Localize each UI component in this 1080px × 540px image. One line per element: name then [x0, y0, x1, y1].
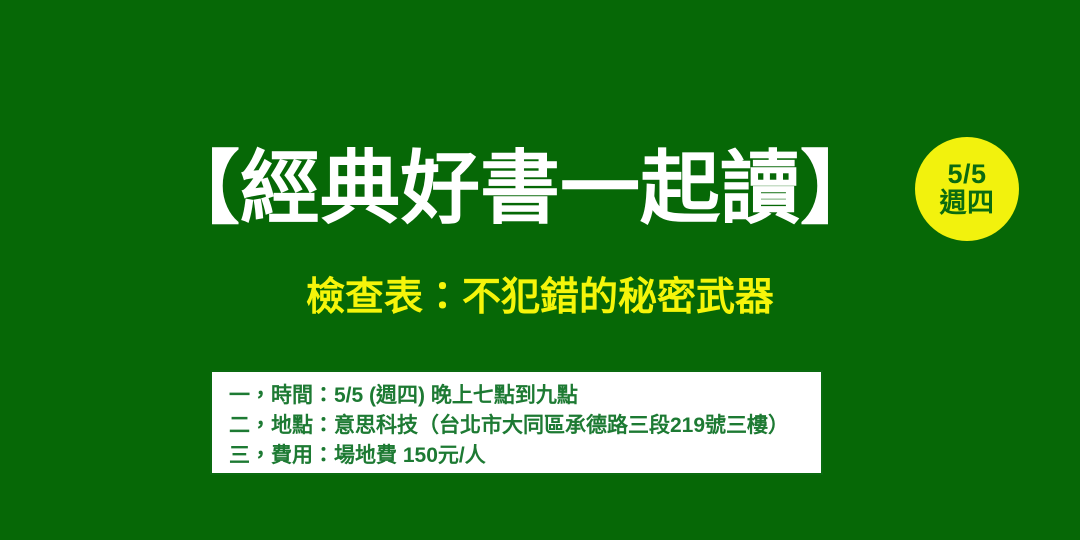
page-subtitle: 檢查表：不犯錯的秘密武器: [0, 276, 1080, 320]
badge-date-label: 5/5: [947, 160, 986, 189]
title-char-2: 典: [320, 148, 400, 228]
page-title: 【 經 典 好 書 一 起 讀 】: [160, 136, 854, 240]
event-poster: 【 經 典 好 書 一 起 讀 】 5/5 週四 檢查表：不犯錯的秘密武器 一，…: [0, 0, 1080, 540]
details-line-location: 二，地點：意思科技（台北市大同區承德路三段219號三樓）: [229, 411, 821, 441]
date-badge: 5/5 週四: [915, 137, 1019, 241]
title-char-7: 讀: [720, 148, 800, 228]
title-bracket-close: 】: [800, 148, 880, 228]
title-char-3: 好: [400, 148, 480, 228]
title-char-5: 一: [560, 148, 640, 228]
badge-weekday-label: 週四: [940, 189, 995, 218]
details-line-fee: 三，費用：場地費 150元/人: [229, 441, 821, 471]
details-box: 一，時間：5/5 (週四) 晚上七點到九點 二，地點：意思科技（台北市大同區承德…: [210, 370, 823, 475]
title-bracket-open: 【: [160, 148, 240, 228]
title-char-4: 書: [480, 148, 560, 228]
details-list: 一，時間：5/5 (週四) 晚上七點到九點 二，地點：意思科技（台北市大同區承德…: [212, 372, 821, 471]
title-char-6: 起: [640, 148, 720, 228]
title-char-1: 經: [240, 148, 320, 228]
details-line-time: 一，時間：5/5 (週四) 晚上七點到九點: [229, 381, 821, 411]
